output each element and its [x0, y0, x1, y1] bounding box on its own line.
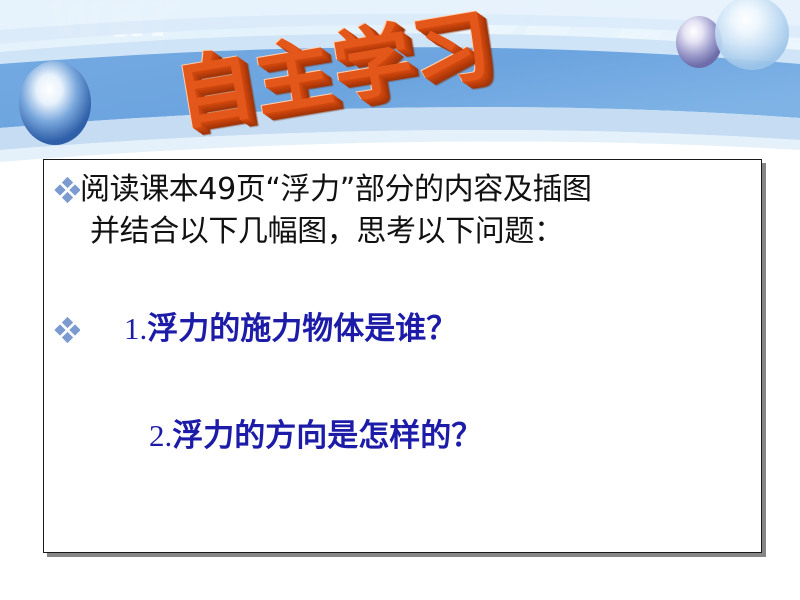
diamond-cluster-bullet-icon	[54, 177, 80, 203]
bubble-small-right-icon	[676, 16, 722, 68]
header-decoration-svg: war	[0, 0, 800, 165]
header-banner: war	[0, 0, 800, 165]
intro-paragraph-line2: 并结合以下几幅图，思考以下问题：	[90, 211, 564, 253]
bubble-left-icon	[19, 61, 91, 145]
content-box: 阅读课本49页“浮力”部分的内容及插图 并结合以下几幅图，思考以下问题： 1.浮…	[43, 159, 762, 553]
diamond-cluster-bullet-icon	[54, 317, 80, 343]
question-2-number: 2.	[149, 418, 172, 453]
question-1-row: 1.浮力的施力物体是谁？	[54, 308, 457, 350]
slide-root: war	[0, 0, 800, 600]
question-1-number: 1.	[124, 311, 147, 346]
question-1-text: 1.浮力的施力物体是谁？	[124, 308, 457, 350]
question-1-body: 浮力的施力物体是谁？	[147, 311, 457, 347]
intro-paragraph: 阅读课本49页“浮力”部分的内容及插图	[54, 169, 754, 211]
intro-paragraph-line2-row: 并结合以下几幅图，思考以下问题：	[90, 211, 770, 253]
intro-paragraph-line1: 阅读课本49页“浮力”部分的内容及插图	[80, 169, 592, 211]
question-2-text: 2.浮力的方向是怎样的？	[149, 415, 482, 457]
question-2-row: 2.浮力的方向是怎样的？	[149, 415, 482, 457]
question-2-body: 浮力的方向是怎样的？	[172, 418, 482, 454]
